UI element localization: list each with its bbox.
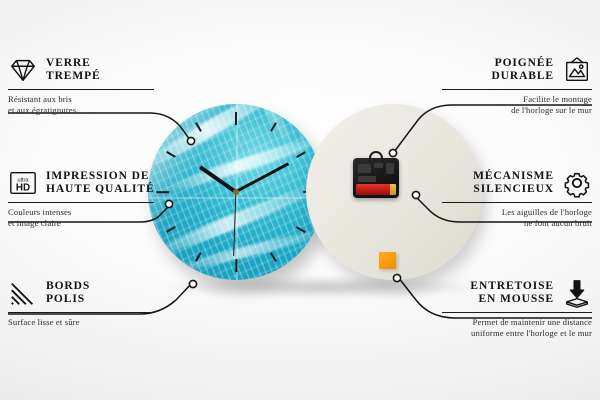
feature-mecanisme-silencieux: MÉCANISME SILENCIEUX Les aiguilles de l'… [412, 168, 592, 229]
arrow-down-layers-icon [562, 278, 592, 308]
connector-dot-verre [187, 137, 194, 144]
feature-divider [8, 202, 154, 203]
feature-title: MÉCANISME SILENCIEUX [473, 170, 554, 196]
feature-impression-haute-qualite: ultra HD IMPRESSION DE HAUTE QUALITÉ Cou… [8, 168, 188, 229]
connector-dot-poignee [389, 149, 396, 156]
feature-entretoise-en-mousse: ENTRETOISE EN MOUSSE Permet de maintenir… [412, 278, 592, 339]
feature-divider [442, 312, 592, 313]
feature-title: IMPRESSION DE HAUTE QUALITÉ [46, 170, 155, 196]
svg-text:HD: HD [16, 183, 30, 194]
connector-dot-entretoise [393, 274, 400, 281]
feature-heading: ENTRETOISE EN MOUSSE [412, 278, 592, 308]
feature-divider [442, 89, 592, 90]
feature-divider [442, 202, 592, 203]
feature-title: POIGNÉE DURABLE [491, 57, 554, 83]
feature-divider [8, 312, 154, 313]
connector-dot-bords [189, 280, 196, 287]
feature-subtitle: Résistant aux bris et aux égratignures [8, 94, 188, 115]
diamond-icon [8, 55, 38, 85]
feature-heading: VERRE TREMPÉ [8, 55, 188, 85]
feature-heading: BORDS POLIS [8, 278, 188, 308]
feature-subtitle: Permet de maintenir une distance uniform… [412, 317, 592, 338]
feature-title: BORDS POLIS [46, 280, 90, 306]
feature-subtitle: Couleurs intenses et image claire [8, 207, 188, 228]
feature-subtitle: Les aiguilles de l'horloge ne font aucun… [412, 207, 592, 228]
feature-title: ENTRETOISE EN MOUSSE [470, 280, 554, 306]
feature-poignee-durable: POIGNÉE DURABLE Facilite le montage de l… [412, 55, 592, 116]
feature-divider [8, 89, 154, 90]
feature-heading: MÉCANISME SILENCIEUX [412, 168, 592, 198]
infographic-stage: VERRE TREMPÉ Résistant aux bris et aux é… [0, 0, 600, 400]
diagonal-lines-icon [8, 278, 38, 308]
feature-subtitle: Surface lisse et sûre [8, 317, 188, 328]
gear-icon [562, 168, 592, 198]
feature-title: VERRE TREMPÉ [46, 57, 101, 83]
picture-frame-hanging-icon [562, 55, 592, 85]
feature-bords-polis: BORDS POLIS Surface lisse et sûre [8, 278, 188, 328]
feature-heading: ultra HD IMPRESSION DE HAUTE QUALITÉ [8, 168, 188, 198]
feature-verre-trempe: VERRE TREMPÉ Résistant aux bris et aux é… [8, 55, 188, 116]
feature-subtitle: Facilite le montage de l'horloge sur le … [412, 94, 592, 115]
feature-heading: POIGNÉE DURABLE [412, 55, 592, 85]
ultra-hd-icon: ultra HD [8, 168, 38, 198]
